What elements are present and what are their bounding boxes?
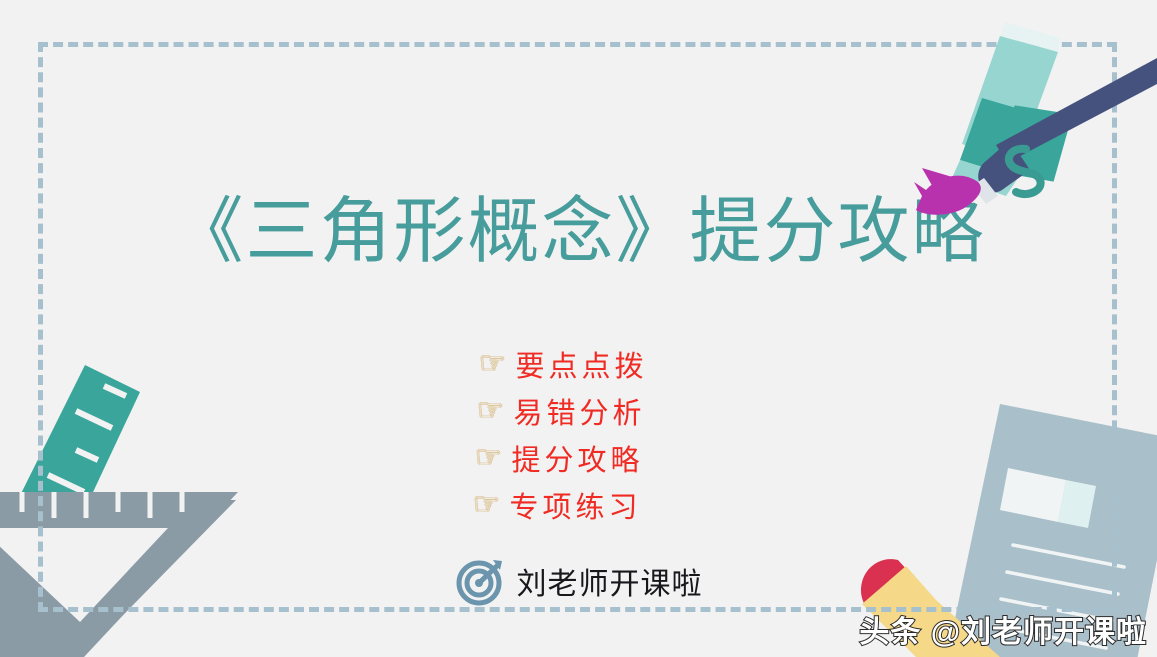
slide-canvas: 《三角形概念》提分攻略 ☞ 要点点拨 ☞ 易错分析 ☞ 提分攻略 ☞ 专项练习 … [0,0,1157,657]
target-dartboard-icon [455,556,505,606]
watermark-text: 头条 @刘老师开课啦 [859,607,1147,651]
branding-name: 刘老师开课啦 [517,559,703,603]
branding-signature: 刘老师开课啦 [0,556,1157,606]
